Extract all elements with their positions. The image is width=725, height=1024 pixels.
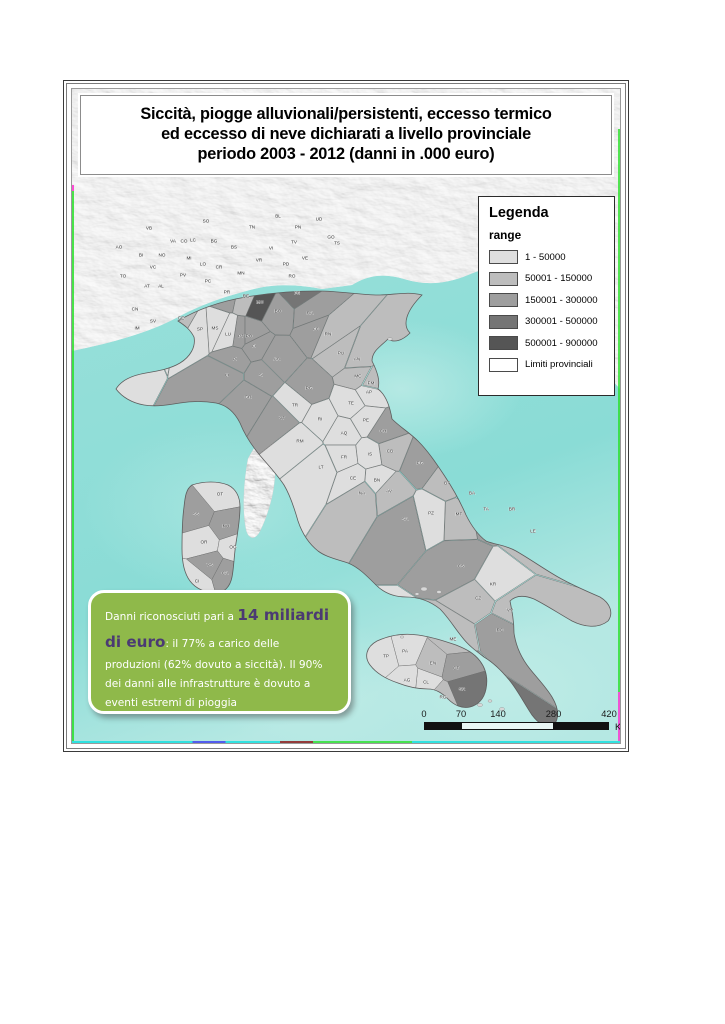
province-label-TS: TS xyxy=(334,241,340,246)
province-label-CA: CA xyxy=(222,571,229,576)
province-label-TO: TO xyxy=(120,274,127,279)
province-label-MN: MN xyxy=(237,271,244,276)
legend-label-0: 1 - 50000 xyxy=(525,252,566,263)
province-label-FI: FI xyxy=(252,344,256,349)
province-label-AN: AN xyxy=(354,357,360,362)
legend-label-2: 150001 - 300000 xyxy=(525,295,598,306)
province-label-AR: AR xyxy=(274,357,281,362)
province-label-BI: BI xyxy=(139,253,143,258)
province-label-BL: BL xyxy=(275,214,281,219)
province-label-TE: TE xyxy=(348,401,354,406)
province-label-GE: GE xyxy=(178,316,185,321)
callout-highlight-2: di euro xyxy=(105,633,165,651)
legend-swatch-5 xyxy=(489,358,518,372)
scale-tick-labels: 070140280420 xyxy=(424,709,609,722)
province-label-RC: RC xyxy=(497,628,504,633)
province-label-LE: LE xyxy=(530,529,536,534)
province-label-SV: SV xyxy=(150,319,157,324)
province-label-SS: SS xyxy=(193,512,199,517)
province-label-VB: VB xyxy=(146,226,152,231)
legend-label-4: 500001 - 900000 xyxy=(525,338,598,349)
province-label-BR: BR xyxy=(509,507,516,512)
province-label-RA: RA xyxy=(307,311,314,316)
province-label-PR: PR xyxy=(224,290,231,295)
callout-text: Danni riconosciuti pari a 14 miliardi di… xyxy=(105,602,334,713)
province-label-TV: TV xyxy=(291,240,298,245)
summary-callout-box: Danni riconosciuti pari a 14 miliardi di… xyxy=(88,590,351,714)
legend-label-1: 50001 - 150000 xyxy=(525,273,592,284)
province-label-SR: SR xyxy=(459,687,466,692)
legend-item-4: 500001 - 900000 xyxy=(489,333,614,353)
province-label-LT: LT xyxy=(318,465,323,470)
map-title-box: Siccità, piogge alluvionali/persistenti,… xyxy=(80,95,612,175)
province-label-RN: RN xyxy=(325,332,332,337)
province-label-MC: MC xyxy=(354,374,362,379)
province-label-PO: PO xyxy=(246,334,253,339)
scale-tick-2: 140 xyxy=(490,709,506,719)
province-label-LO: LO xyxy=(200,262,207,267)
legend-swatch-1 xyxy=(489,272,518,286)
province-label-SI: SI xyxy=(259,373,263,378)
province-label-SO: SO xyxy=(203,219,210,224)
legend-title: Legenda xyxy=(489,205,614,221)
province-label-AP: AP xyxy=(366,390,372,395)
province-label-VR: VR xyxy=(256,258,263,263)
province-label-AL: AL xyxy=(158,284,164,289)
scale-unit-label: Km xyxy=(615,722,621,732)
legend-swatch-2 xyxy=(489,293,518,307)
province-label-VA: VA xyxy=(170,239,177,244)
province-label-FE: FE xyxy=(294,291,300,296)
title-line-3: periodo 2003 - 2012 (danni in .000 euro) xyxy=(198,145,495,165)
province-label-CI: CI xyxy=(195,579,200,584)
province-label-RG: RG xyxy=(440,695,447,700)
legend-swatch-3 xyxy=(489,315,518,329)
province-label-PA: PA xyxy=(402,649,409,654)
province-label-IS: IS xyxy=(368,452,372,457)
legend-item-3: 300001 - 500000 xyxy=(489,312,614,332)
page-root: AOVBBIVCNOVACOLCSOBGBSTNBLPNUDTSGOTVVIVR… xyxy=(0,0,725,1024)
scale-tick-1: 70 xyxy=(456,709,466,719)
province-label-PI: PI xyxy=(233,357,237,362)
province-label-NU: NU xyxy=(223,524,230,529)
province-label-GO: GO xyxy=(327,235,335,240)
province-label-GR: GR xyxy=(245,395,253,400)
province-label-OG: OG xyxy=(229,545,237,550)
province-label-BA: BA xyxy=(469,491,476,496)
province-label-RM: RM xyxy=(296,439,303,444)
legend-entries: 1 - 5000050001 - 150000150001 - 30000030… xyxy=(489,247,614,375)
province-label-FC: FC xyxy=(313,327,320,332)
scale-tick-0: 0 xyxy=(421,709,426,719)
legend-label-3: 300001 - 500000 xyxy=(525,316,598,327)
province-label-BN: BN xyxy=(374,478,380,483)
province-label-OR: OR xyxy=(201,540,209,545)
province-label-FM: FM xyxy=(368,381,375,386)
province-label-CL: CL xyxy=(423,680,429,685)
province-label-CS: CS xyxy=(458,564,464,569)
province-label-KR: KR xyxy=(490,582,497,587)
legend-item-2: 150001 - 300000 xyxy=(489,290,614,310)
province-label-CR: CR xyxy=(216,265,223,270)
province-label-RE: RE xyxy=(243,294,249,299)
province-label-VT: VT xyxy=(279,416,285,421)
province-label-CO: CO xyxy=(181,239,188,244)
province-label-AT: AT xyxy=(144,284,150,289)
province-label-MO: MO xyxy=(256,300,264,305)
province-label-PN: PN xyxy=(295,225,301,230)
province-label-TP: TP xyxy=(383,654,389,659)
province-label-MS: MS xyxy=(212,326,219,331)
legend-item-5: Limiti provinciali xyxy=(489,355,614,375)
legend-box: Legenda range 1 - 5000050001 - 150000150… xyxy=(478,196,615,396)
province-label-CE: CE xyxy=(350,476,356,481)
legend-label-5: Limiti provinciali xyxy=(525,359,593,370)
province-label-UD: UD xyxy=(316,217,323,222)
scale-tick-4: 420 xyxy=(601,709,617,719)
province-label-PU: PU xyxy=(338,351,344,356)
scale-tick-3: 280 xyxy=(546,709,562,719)
province-label-IM: IM xyxy=(134,326,139,331)
legend-item-1: 50001 - 150000 xyxy=(489,269,614,289)
province-label-PT: PT xyxy=(238,334,244,339)
province-label-PG: PG xyxy=(306,386,313,391)
province-label-NA: NA xyxy=(359,491,366,496)
province-label-OT: OT xyxy=(217,492,224,497)
province-label-PV: PV xyxy=(180,273,187,278)
province-label-TR: TR xyxy=(292,403,299,408)
province-label-PD: PD xyxy=(283,262,290,267)
province-label-LC: LC xyxy=(190,238,197,243)
province-label-BG: BG xyxy=(211,239,218,244)
legend-swatch-4 xyxy=(489,336,518,350)
province-label-CZ: CZ xyxy=(475,596,481,601)
callout-highlight-1: 14 miliardi xyxy=(237,606,329,624)
province-label-TN: TN xyxy=(249,225,255,230)
province-label-SA: SA xyxy=(402,517,409,522)
title-line-1: Siccità, piogge alluvionali/persistenti,… xyxy=(140,105,551,125)
province-label-ME: ME xyxy=(450,637,457,642)
province-label-CB: CB xyxy=(387,449,393,454)
province-label-VV: VV xyxy=(507,608,514,613)
province-label-FR: FR xyxy=(341,455,348,460)
province-label-MT: MT xyxy=(456,512,463,517)
callout-text-a: Danni riconosciuti pari a xyxy=(105,611,237,623)
legend-swatch-0 xyxy=(489,250,518,264)
province-label-TA: TA xyxy=(483,507,489,512)
province-label-PE: PE xyxy=(363,418,369,423)
province-label-RO: RO xyxy=(289,274,296,279)
province-label-LU: LU xyxy=(225,332,231,337)
legend-subtitle: range xyxy=(489,228,614,242)
province-label-AO: AO xyxy=(116,245,123,250)
province-label-BS: BS xyxy=(231,245,237,250)
province-label-MI: MI xyxy=(186,256,191,261)
province-label-CT: CT xyxy=(453,666,459,671)
province-label-VS: VS xyxy=(207,563,213,568)
province-label-VE: VE xyxy=(302,256,308,261)
scale-bar-graphic xyxy=(424,722,609,730)
province-label-NO: NO xyxy=(159,253,166,258)
province-label-VI: VI xyxy=(269,246,273,251)
province-label-AV: AV xyxy=(386,489,393,494)
province-label-PC: PC xyxy=(205,279,212,284)
province-label-VC: VC xyxy=(150,265,157,270)
province-label-AQ: AQ xyxy=(341,431,348,436)
province-label-FG: FG xyxy=(417,461,424,466)
province-label-CN: CN xyxy=(132,307,139,312)
province-label-AG: AG xyxy=(404,678,411,683)
province-label-BT: BT xyxy=(444,481,450,486)
province-label-SP: SP xyxy=(197,327,203,332)
province-label-EN: EN xyxy=(430,661,436,666)
province-label-LI: LI xyxy=(225,373,229,378)
province-label-CH: CH xyxy=(380,429,387,434)
province-label-BO: BO xyxy=(275,309,282,314)
province-label-RI: RI xyxy=(318,417,323,422)
scale-bar: 070140280420 Km xyxy=(424,709,609,730)
title-line-2: ed eccesso di neve dichiarati a livello … xyxy=(161,125,531,145)
legend-item-0: 1 - 50000 xyxy=(489,247,614,267)
province-label-PZ: PZ xyxy=(428,511,434,516)
